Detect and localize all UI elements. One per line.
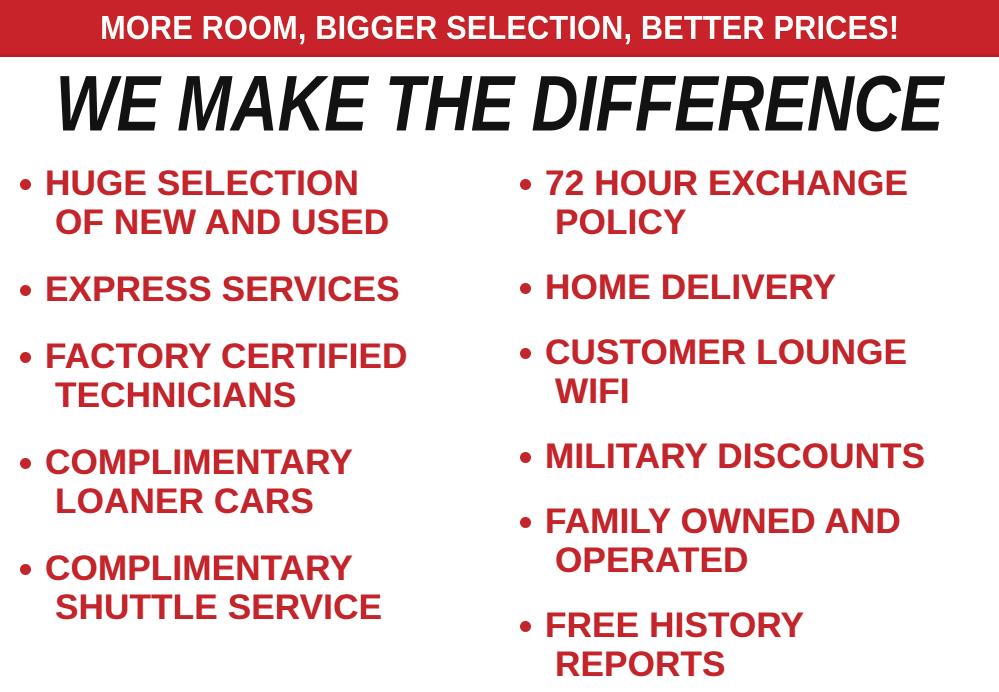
top-banner: MORE ROOM, BIGGER SELECTION, BETTER PRIC… [0, 0, 999, 57]
bullet-icon [20, 458, 31, 469]
page-title: WE MAKE THE DIFFERENCE [56, 65, 944, 143]
feature-line-2: REPORTS [545, 645, 804, 684]
feature-line-2: OF NEW AND USED [45, 203, 389, 242]
feature-line-1: 72 HOUR EXCHANGE [545, 164, 908, 203]
feature-line-1: CUSTOMER LOUNGE [545, 333, 907, 372]
feature-label: 72 HOUR EXCHANGE POLICY [545, 164, 908, 242]
feature-label: FREE HISTORY REPORTS [545, 606, 804, 684]
feature-line-2: WIFI [545, 372, 907, 411]
feature-label: FACTORY CERTIFIED TECHNICIANS [45, 337, 408, 415]
list-item: CUSTOMER LOUNGE WIFI [508, 333, 999, 411]
bullet-icon [20, 352, 31, 363]
feature-label: FAMILY OWNED AND OPERATED [545, 502, 901, 580]
bullet-icon [520, 179, 531, 190]
list-item: FREE HISTORY REPORTS [508, 606, 999, 684]
bullet-icon [520, 517, 531, 528]
feature-line-2: SHUTTLE SERVICE [45, 588, 382, 627]
feature-line-2: POLICY [545, 203, 908, 242]
feature-label: CUSTOMER LOUNGE WIFI [545, 333, 907, 411]
feature-line-1: EXPRESS SERVICES [45, 270, 400, 309]
features-column-left: HUGE SELECTION OF NEW AND USED EXPRESS S… [8, 158, 503, 655]
bullet-icon [520, 348, 531, 359]
banner-headline-text: MORE ROOM, BIGGER SELECTION, BETTER PRIC… [100, 11, 899, 44]
features-column-right: 72 HOUR EXCHANGE POLICY HOME DELIVERY CU… [508, 158, 999, 692]
feature-line-1: FACTORY CERTIFIED [45, 337, 408, 376]
list-item: HOME DELIVERY [508, 268, 999, 307]
features-columns: HUGE SELECTION OF NEW AND USED EXPRESS S… [0, 158, 999, 692]
feature-line-1: MILITARY DISCOUNTS [545, 437, 925, 476]
list-item: FAMILY OWNED AND OPERATED [508, 502, 999, 580]
list-item: 72 HOUR EXCHANGE POLICY [508, 164, 999, 242]
feature-line-1: FREE HISTORY [545, 606, 804, 645]
feature-label: HOME DELIVERY [545, 268, 836, 307]
list-item: COMPLIMENTARY LOANER CARS [8, 443, 503, 521]
feature-label: HUGE SELECTION OF NEW AND USED [45, 164, 389, 242]
feature-label: MILITARY DISCOUNTS [545, 437, 925, 476]
headline-container: WE MAKE THE DIFFERENCE [0, 60, 999, 148]
feature-label: COMPLIMENTARY LOANER CARS [45, 443, 353, 521]
list-item: MILITARY DISCOUNTS [508, 437, 999, 476]
feature-line-1: HUGE SELECTION [45, 164, 359, 203]
list-item: COMPLIMENTARY SHUTTLE SERVICE [8, 549, 503, 627]
bullet-icon [20, 285, 31, 296]
feature-line-2: TECHNICIANS [45, 376, 408, 415]
list-item: HUGE SELECTION OF NEW AND USED [8, 164, 503, 242]
promo-poster: MORE ROOM, BIGGER SELECTION, BETTER PRIC… [0, 0, 999, 692]
bullet-icon [520, 621, 531, 632]
feature-label: COMPLIMENTARY SHUTTLE SERVICE [45, 549, 382, 627]
feature-line-2: OPERATED [545, 541, 901, 580]
feature-line-1: HOME DELIVERY [545, 268, 836, 307]
list-item: FACTORY CERTIFIED TECHNICIANS [8, 337, 503, 415]
bullet-icon [20, 179, 31, 190]
list-item: EXPRESS SERVICES [8, 270, 503, 309]
feature-label: EXPRESS SERVICES [45, 270, 400, 309]
feature-line-2: LOANER CARS [45, 482, 353, 521]
bullet-icon [520, 283, 531, 294]
bullet-icon [20, 564, 31, 575]
feature-line-1: COMPLIMENTARY [45, 443, 353, 482]
bullet-icon [520, 452, 531, 463]
feature-line-1: COMPLIMENTARY [45, 549, 353, 588]
feature-line-1: FAMILY OWNED AND [545, 502, 901, 541]
